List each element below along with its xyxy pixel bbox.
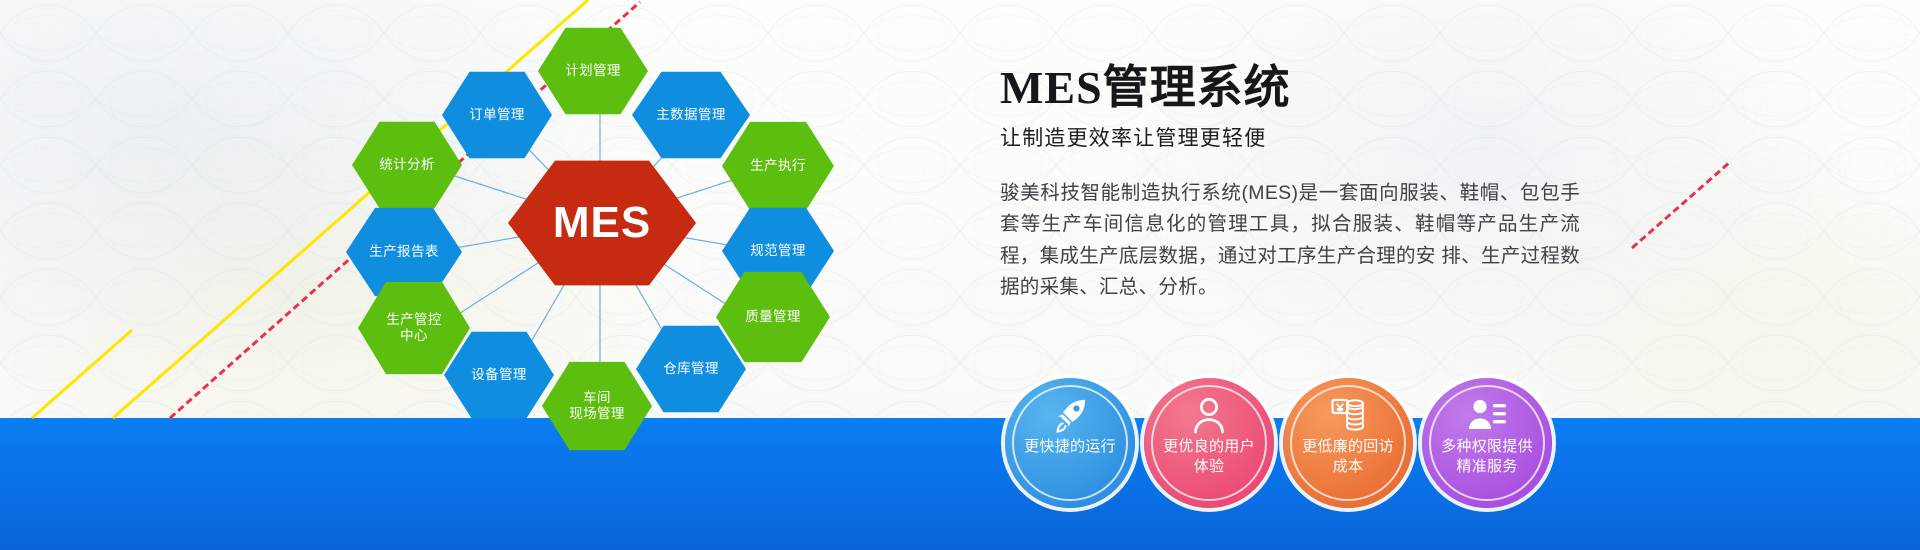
- hexagon-node-label: 生产管控中心: [386, 312, 442, 345]
- blue-bottom-band: [0, 418, 1920, 550]
- page-subtitle: 让制造更效率让管理更轻便: [1000, 122, 1580, 152]
- hexagon-node-label: 订单管理: [469, 107, 525, 123]
- feature-badge-lower-revisit-cost[interactable]: 更低廉的回访成本: [1283, 378, 1413, 508]
- banner-text-column: MES管理系统 让制造更效率让管理更轻便 骏美科技智能制造执行系统(MES)是一…: [1000, 62, 1580, 304]
- badge-inner-ring: [1151, 385, 1267, 501]
- hexagon-node-label: 仓库管理: [663, 361, 719, 377]
- badge-inner-ring: [1012, 385, 1128, 501]
- badge-inner-ring: [1290, 385, 1406, 501]
- badge-inner-ring: [1429, 385, 1545, 501]
- hexagon-node-label: 统计分析: [379, 157, 435, 173]
- hexagon-node-label: 主数据管理: [656, 107, 726, 123]
- hexagon-node-label: 计划管理: [565, 63, 621, 79]
- mes-hexagon-diagram: MES 计划管理 订单管理 主数据管理 统计分析 生产执行 生产报告表 规范管理…: [330, 8, 870, 448]
- hexagon-node-label: 规范管理: [750, 243, 806, 259]
- hexagon-node-label: 质量管理: [745, 309, 801, 325]
- hexagon-node-label: 设备管理: [471, 367, 527, 383]
- feature-badge-better-user-experience[interactable]: 更优良的用户体验: [1144, 378, 1274, 508]
- feature-badge-list: 更快捷的运行 更优良的用户体验: [1005, 378, 1552, 508]
- hexagon-node-label: 生产执行: [750, 158, 806, 174]
- banner-description: 骏美科技智能制造执行系统(MES)是一套面向服装、鞋帽、包包手套等生产车间信息化…: [1000, 178, 1580, 304]
- hexagon-node-label: 车间现场管理: [569, 390, 625, 423]
- feature-badge-faster-operation[interactable]: 更快捷的运行: [1005, 378, 1135, 508]
- mes-marketing-banner: MES 计划管理 订单管理 主数据管理 统计分析 生产执行 生产报告表 规范管理…: [0, 0, 1920, 550]
- feature-badge-multi-permission[interactable]: 多种权限提供精准服务: [1422, 378, 1552, 508]
- hexagon-node-label: 生产报告表: [369, 244, 439, 260]
- hexagon-center-label: MES: [553, 198, 651, 248]
- page-title: MES管理系统: [1000, 62, 1580, 114]
